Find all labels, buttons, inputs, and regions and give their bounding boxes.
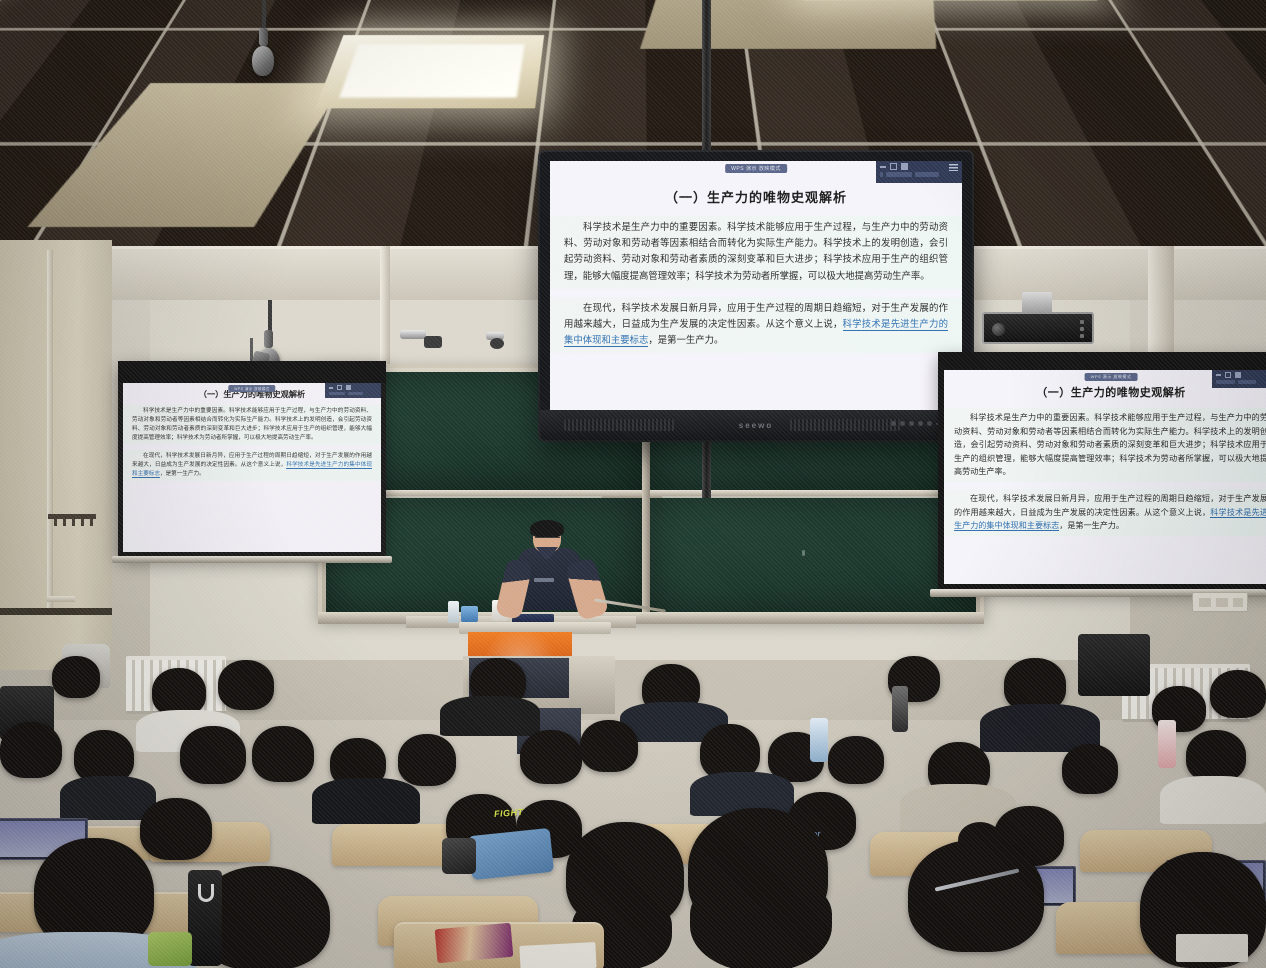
display-port-2[interactable] [900,421,905,426]
student-head [180,726,246,784]
left-minimize-icon [329,387,333,389]
wall-pillar-mid [380,246,390,366]
bottle-logo-icon [198,884,214,902]
coat-hook-3 [72,519,75,526]
lecturer-hair [530,520,564,538]
student-shoulders [60,776,156,820]
projector-lens-icon [992,323,1005,336]
student-shoulders [440,696,540,736]
left-wall-baseboard [0,608,112,615]
toolbar-chip-annotate[interactable] [886,172,912,177]
patterned-bottle [1158,720,1176,768]
projector-indicator-lights [1080,320,1084,338]
lecture-hall-photo: WPS 演示 放映模式 [0,0,1266,968]
blue-box-on-desk [461,606,478,622]
student-hair-bun [958,822,1002,858]
student-head [0,722,62,778]
speaker-neck-1 [259,28,268,46]
green-item [148,932,192,966]
ceiling-projector [982,312,1094,344]
notebook-paper [519,942,596,968]
slide-paragraph-1: 科学技术是生产力中的重要因素。科学技术能够应用于生产过程，与生产力中的劳动资料、… [550,216,962,289]
student-head [580,720,638,772]
lecturer [500,520,612,630]
right-window-controls [1212,370,1266,388]
presentation-toolbar[interactable]: WPS 演示 放映模式 [550,161,962,183]
slide-canvas-center: WPS 演示 放映模式 [550,161,962,410]
student-head [1210,670,1266,718]
hamburger-menu-icon[interactable] [949,164,958,171]
student-head [252,726,314,782]
left-projection-screen: WPS 演示 放映模式 （一）生产力的唯物史观解析 [118,361,386,557]
coat-hook-1 [54,519,57,526]
display-port-4[interactable] [918,421,923,426]
display-screen[interactable]: WPS 演示 放映模式 [550,161,962,410]
student-long-hair [690,876,832,968]
seat-back [332,824,460,866]
ceiling-light-well-right [640,0,977,49]
student-shoulders [312,778,420,824]
ceiling-speaker-1 [252,46,274,76]
dark-pouch [442,838,476,874]
student-head [398,734,456,786]
graphic-tee-text: FIGHT [494,807,524,819]
wall-pipe-elbow [47,596,75,602]
student-head [1062,744,1118,794]
presentation-mode-tag: WPS 演示 放映模式 [725,164,787,173]
left-paragraph-2-post: ，是第一生产力。 [160,471,205,477]
slide-title: （一）生产力的唯物史观解析 [550,187,962,206]
display-speaker-grille-right [790,419,900,431]
minimize-icon[interactable] [880,166,886,168]
maximize-icon[interactable] [890,163,897,170]
pencil-case [468,828,554,880]
display-port-1[interactable] [891,421,896,426]
paragraph-2-post: ，是第一生产力。 [648,336,723,346]
student-head [828,736,884,784]
left-presentation-mode-tag: WPS 演示 放映模式 [228,385,275,392]
student-head [520,730,582,784]
toolbar-chip-play[interactable] [915,172,939,177]
right-presentation-mode-tag: WPS 演示 放映模式 [1085,373,1138,381]
ceiling-light-2 [315,35,544,108]
left-toolbar-chip-1 [329,392,345,395]
coat-hook-2 [63,519,66,526]
projector-ceiling-mount [1022,292,1052,314]
right-screen-image: WPS 演示 放映模式 （一）生产力的唯物 [944,370,1266,584]
left-slide-paragraph-2: 在现代，科学技术发展日新月异，应用于生产过程的周期日趋缩短，对于生产发展的作用越… [123,450,381,481]
water-bottle [810,718,828,762]
display-port-5[interactable] [927,421,932,426]
wall-outlet-socket-2 [1216,598,1228,607]
water-bottle-on-desk [448,601,459,623]
dark-equipment-right [1078,634,1150,696]
left-presentation-toolbar: WPS 演示 放映模式 [123,383,381,405]
menu-grid-icon[interactable] [901,163,908,170]
right-projection-screen: WPS 演示 放映模式 （一）生产力的唯物 [938,352,1266,590]
display-speaker-grille-left [564,419,674,431]
snack-packet [435,923,514,963]
student-head [1186,730,1246,782]
notebook-paper [1176,934,1248,962]
display-mount-pole-lower [702,436,711,498]
interactive-flat-panel-display[interactable]: WPS 演示 放映模式 [540,152,972,440]
ceiling-light-3 [788,0,1098,1]
left-screen-bottom-bar [112,556,392,563]
ceiling-camera-mount-left [400,330,426,339]
slide-canvas-left: WPS 演示 放映模式 （一）生产力的唯物史观解析 [123,383,381,552]
ceiling-camera-left [424,336,442,348]
student-head [52,656,100,698]
display-port-3[interactable] [909,421,914,426]
lecturer-glasses [535,537,560,542]
right-slide-paragraph-1: 科学技术是生产力中的重要因素。科学技术能够应用于生产过程，与生产力中的劳动资料、… [944,408,1266,482]
right-slide-paragraph-2: 在现代，科学技术发展日新月异，应用于生产过程的周期日趋缩短，对于生产发展的作用越… [944,489,1266,536]
right-menu-grid-icon [1235,372,1241,378]
toolbar-dot[interactable] [880,172,883,177]
display-brand-label: seewo [739,421,773,430]
right-toolbar-chip-1 [1216,380,1235,384]
left-slide-paragraph-1: 科学技术是生产力中的重要因素。科学技术能够应用于生产过程，与生产力中的劳动资料、… [123,405,381,445]
right-minimize-icon [1216,374,1221,376]
student-shoulders [1160,776,1266,824]
wall-outlet-socket-1 [1199,598,1211,607]
right-maximize-icon [1225,372,1231,378]
left-window-controls [325,383,381,398]
coat-hook-5 [90,519,93,526]
window-controls[interactable] [876,161,962,183]
left-screen-topbar [118,361,386,383]
lecturer-name-badge [534,578,554,582]
coat-hook-4 [81,519,84,526]
right-paragraph-2-post: ，是第一生产力。 [1059,521,1124,530]
display-mount-pole-upper [702,0,711,160]
right-toolbar-chip-2 [1238,380,1256,384]
ceiling-camera-mid [490,338,504,349]
display-bottom-bezel: seewo [540,410,972,440]
thermos-bottle [892,686,908,732]
left-toolbar-chip-2 [348,392,363,395]
left-maximize-icon [337,385,342,390]
wall-outlet-socket-3 [1233,598,1243,607]
blackboard-panel-bottom-right [650,498,976,615]
left-screen-image: WPS 演示 放映模式 （一）生产力的唯物史观解析 [123,383,381,552]
wall-pipe [47,250,53,610]
student-head [140,798,212,860]
student-head [218,660,274,710]
speaker-pendant-rod-3 [268,300,272,334]
lecturer-right-arm [565,557,610,621]
slide-paragraph-2: 在现代，科学技术发展日新月异，应用于生产过程的周期日趋缩短，对于生产发展的作用越… [550,297,962,354]
slide-canvas-right: WPS 演示 放映模式 （一）生产力的唯物 [944,370,1266,584]
student-audience: FIGHT CoolSummer [0,626,1266,968]
student-head [152,668,206,716]
speaker-neck-2 [264,330,273,348]
right-presentation-toolbar: WPS 演示 放映模式 [944,370,1266,392]
left-side-wall [0,240,112,670]
left-menu-grid-icon [346,385,351,390]
